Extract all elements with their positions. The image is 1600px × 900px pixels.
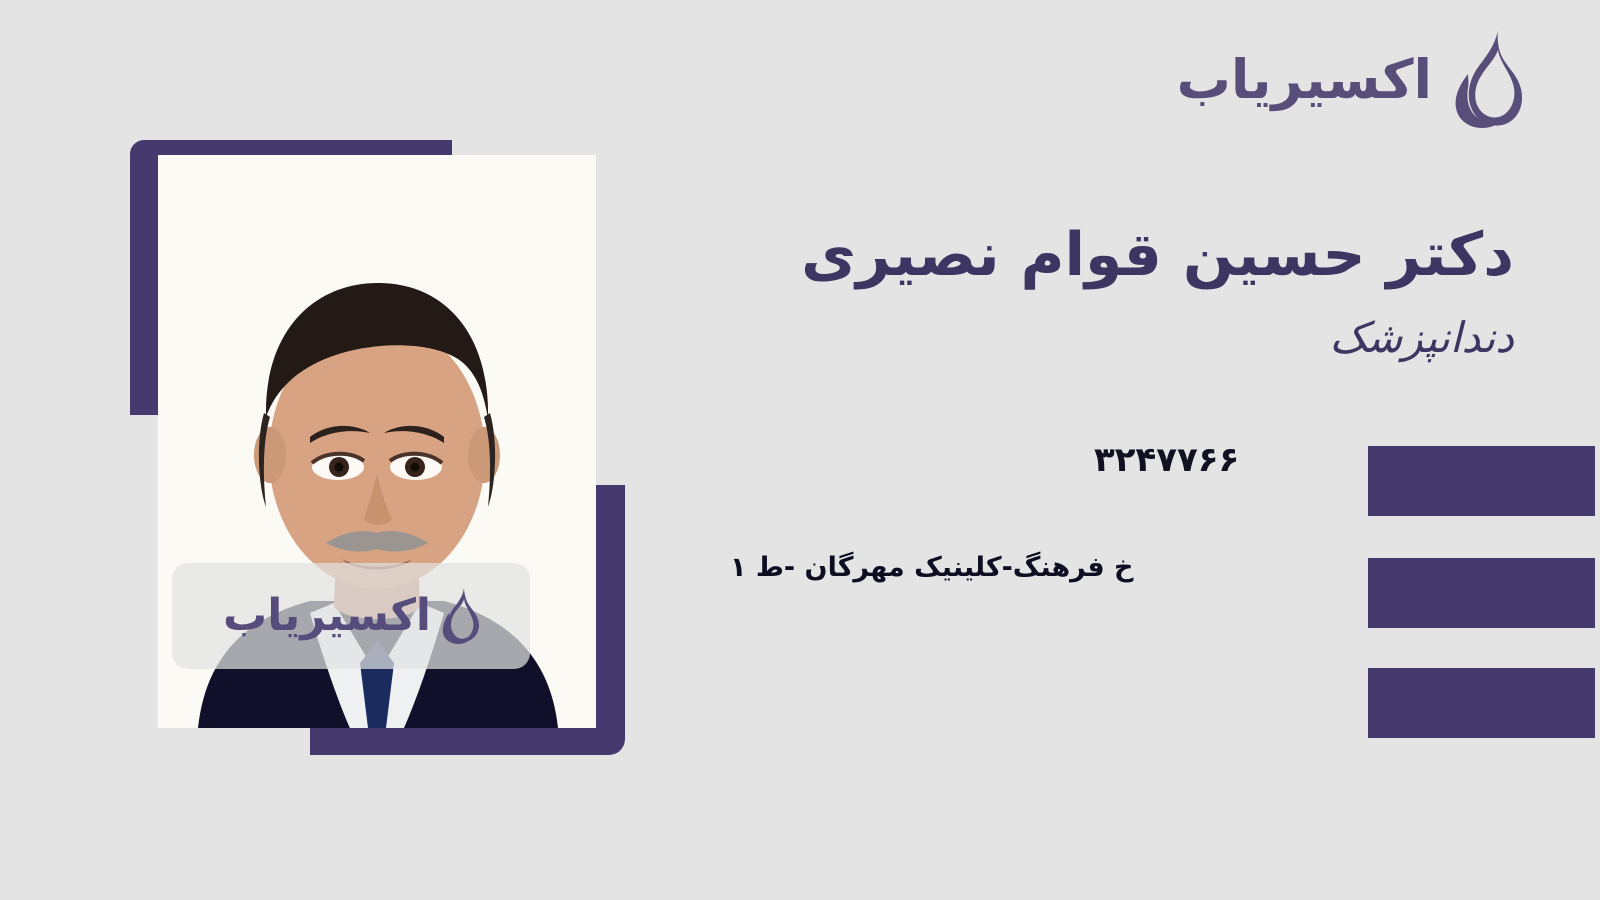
clinic-address: خ فرهنگ-کلینیک مهرگان -ط ۱: [730, 552, 1350, 583]
doctor-name: دکتر حسین قوام نصیری: [714, 218, 1514, 293]
flame-drop-icon: [437, 587, 479, 645]
decor-bar-1: [1368, 446, 1595, 516]
watermark-brand-name: اکسیریاب: [223, 594, 431, 638]
flame-drop-icon: [1442, 28, 1528, 132]
doctor-photo-frame: اکسیریاب: [158, 155, 596, 728]
doctor-profile-card: اکسیریاب: [0, 0, 1600, 900]
photo-watermark: اکسیریاب: [172, 563, 530, 669]
decor-bar-2: [1368, 558, 1595, 628]
brand-logo[interactable]: اکسیریاب: [1177, 28, 1528, 132]
decor-bar-3: [1368, 668, 1595, 738]
doctor-info: دکتر حسین قوام نصیری دندانپزشک: [714, 218, 1514, 366]
doctor-specialty: دندانپزشک: [714, 311, 1514, 366]
brand-name: اکسیریاب: [1177, 53, 1432, 107]
photo-block: اکسیریاب: [130, 140, 625, 755]
